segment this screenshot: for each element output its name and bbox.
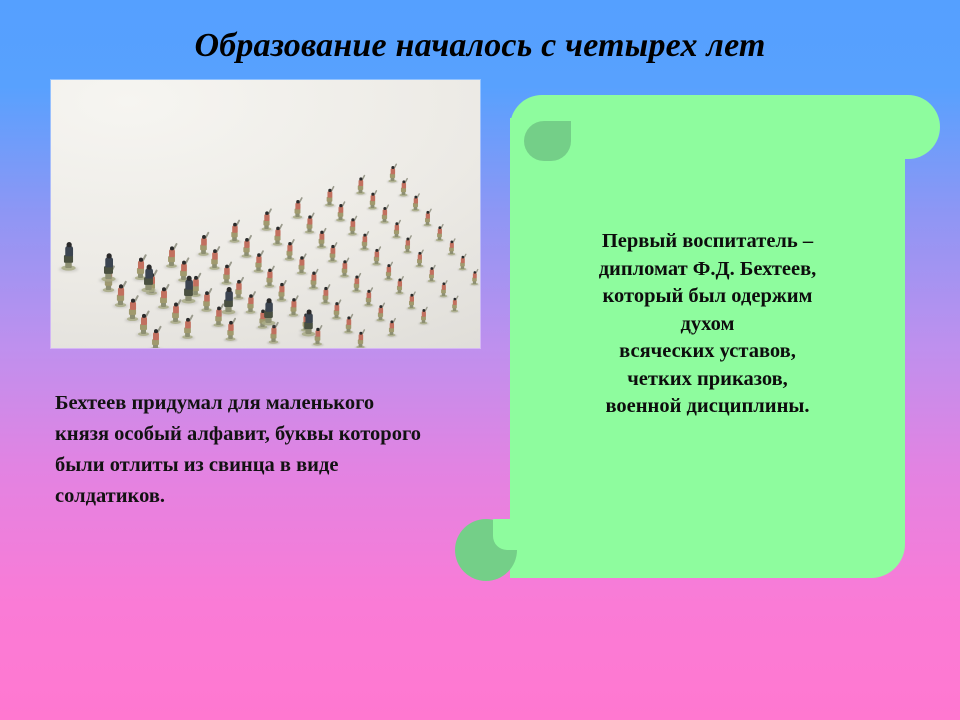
callout-text-line: четких приказов, — [515, 366, 900, 394]
callout-text-line: духом — [515, 311, 900, 339]
callout-text-line: всяческих уставов, — [515, 338, 900, 366]
presentation-slide: Образование началось с четырех лет Бехте… — [0, 0, 960, 720]
callout-body-text: Первый воспитатель – дипломат Ф.Д. Бехте… — [515, 228, 900, 421]
circle-notch-icon — [493, 519, 519, 550]
callout-text-line: который был одержим — [515, 283, 900, 311]
leaf-icon — [524, 121, 571, 161]
green-callout-group: Первый воспитатель – дипломат Ф.Д. Бехте… — [0, 0, 960, 720]
callout-text-line: военной дисциплины. — [515, 393, 900, 421]
callout-text-line: Первый воспитатель – — [515, 228, 900, 256]
callout-text-line: дипломат Ф.Д. Бехтеев, — [515, 256, 900, 284]
